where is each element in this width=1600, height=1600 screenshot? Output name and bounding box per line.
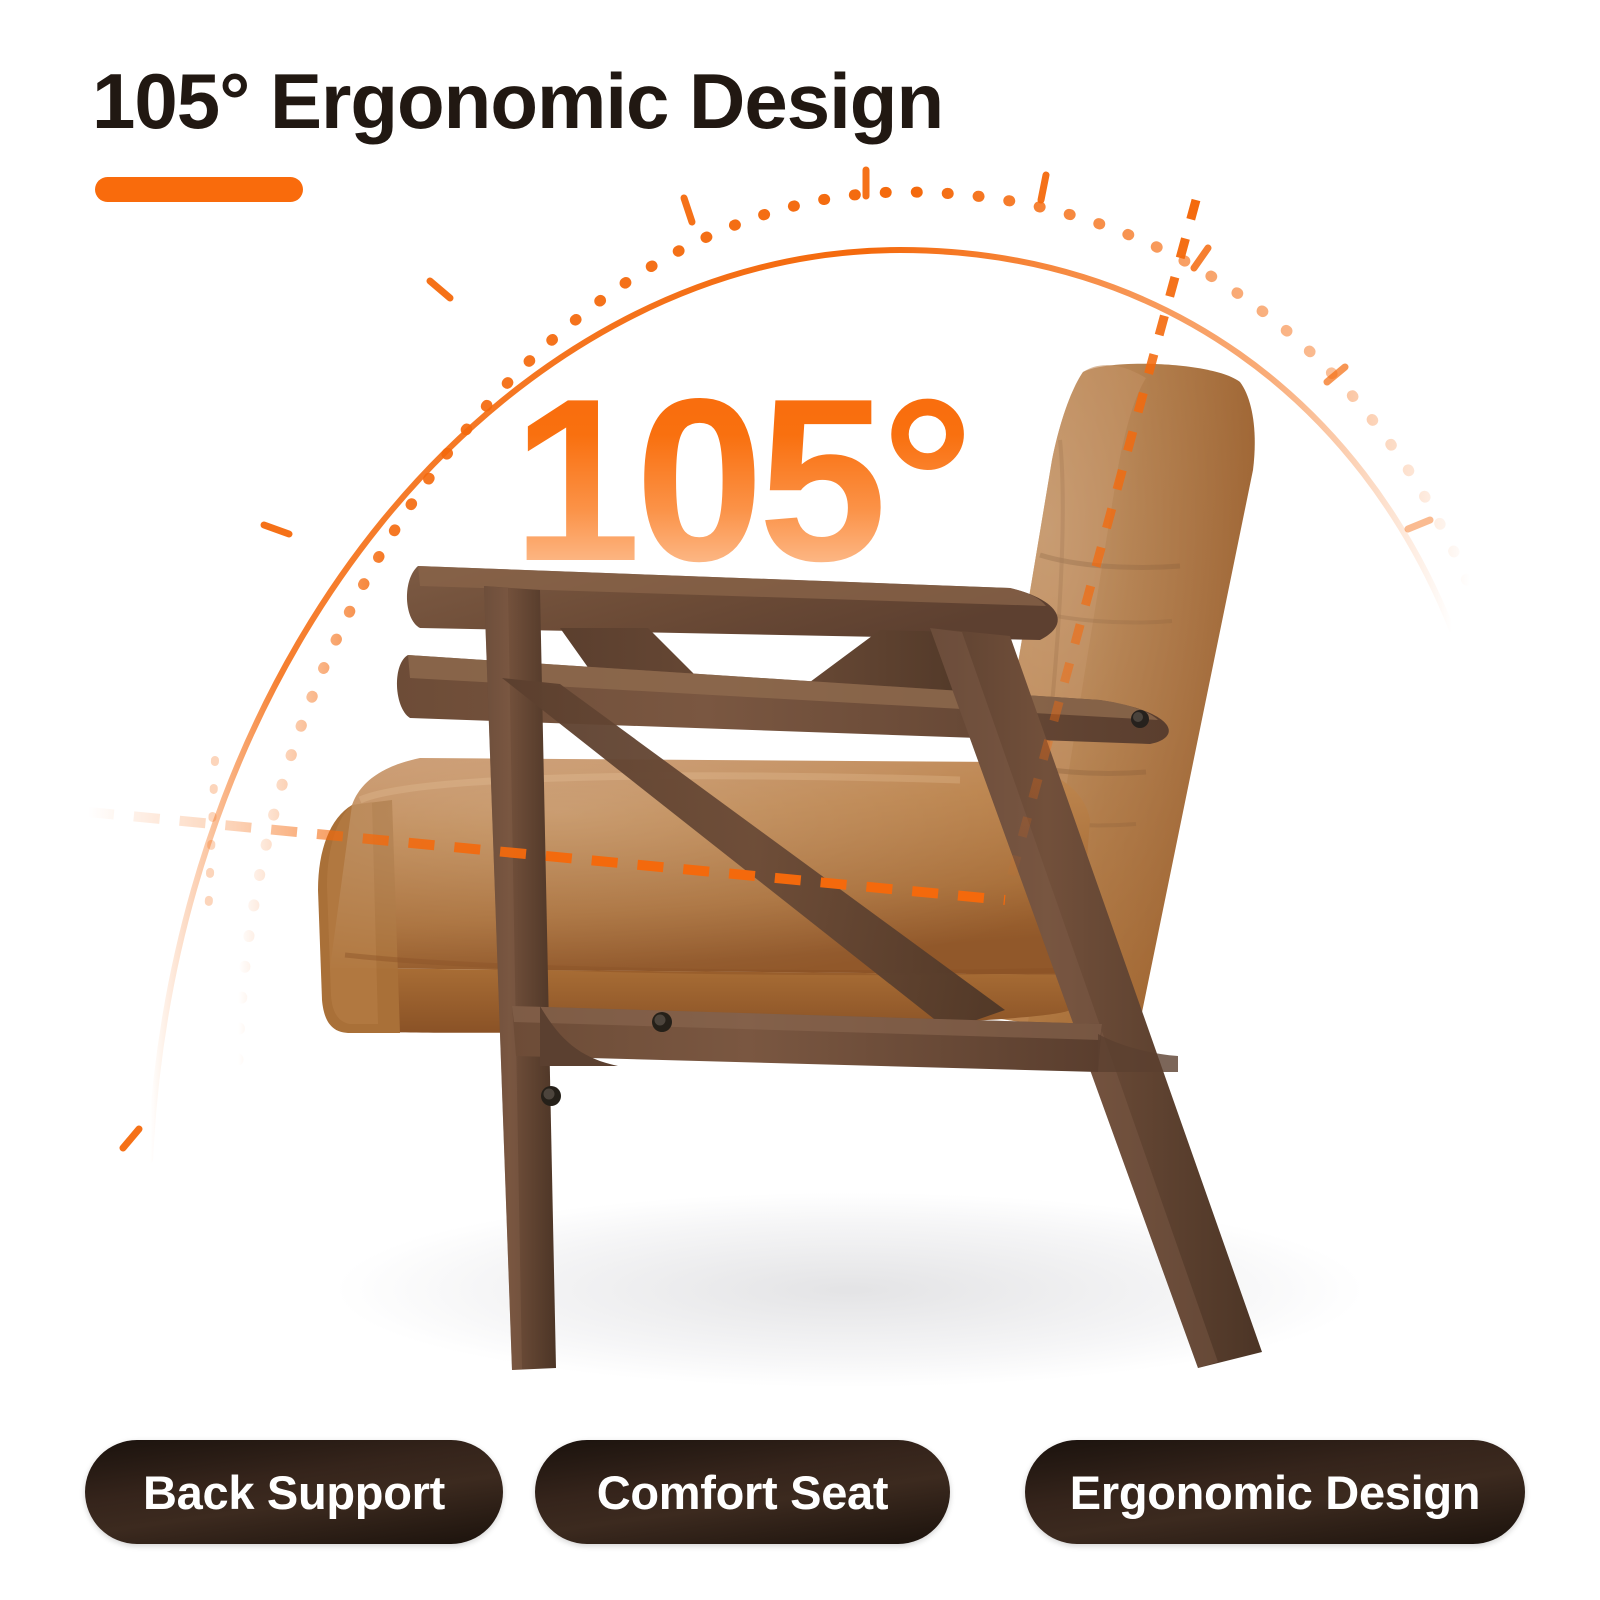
badge-label: Ergonomic Design [1070,1465,1480,1520]
badge-back-support[interactable]: Back Support [85,1440,503,1544]
seat-plane-guide [88,812,1005,900]
feature-badge-row: Back Support Comfort Seat Ergonomic Desi… [0,1440,1600,1548]
badge-comfort-seat[interactable]: Comfort Seat [535,1440,950,1544]
product-feature-image: 105° Ergonomic Design [0,0,1600,1600]
angle-guide-lines [0,0,1600,1600]
badge-label: Comfort Seat [597,1465,888,1520]
badge-ergonomic-design[interactable]: Ergonomic Design [1025,1440,1525,1544]
left-vertical-guide [208,760,215,920]
backrest-angle-guide [1005,200,1196,900]
badge-label: Back Support [143,1465,445,1520]
